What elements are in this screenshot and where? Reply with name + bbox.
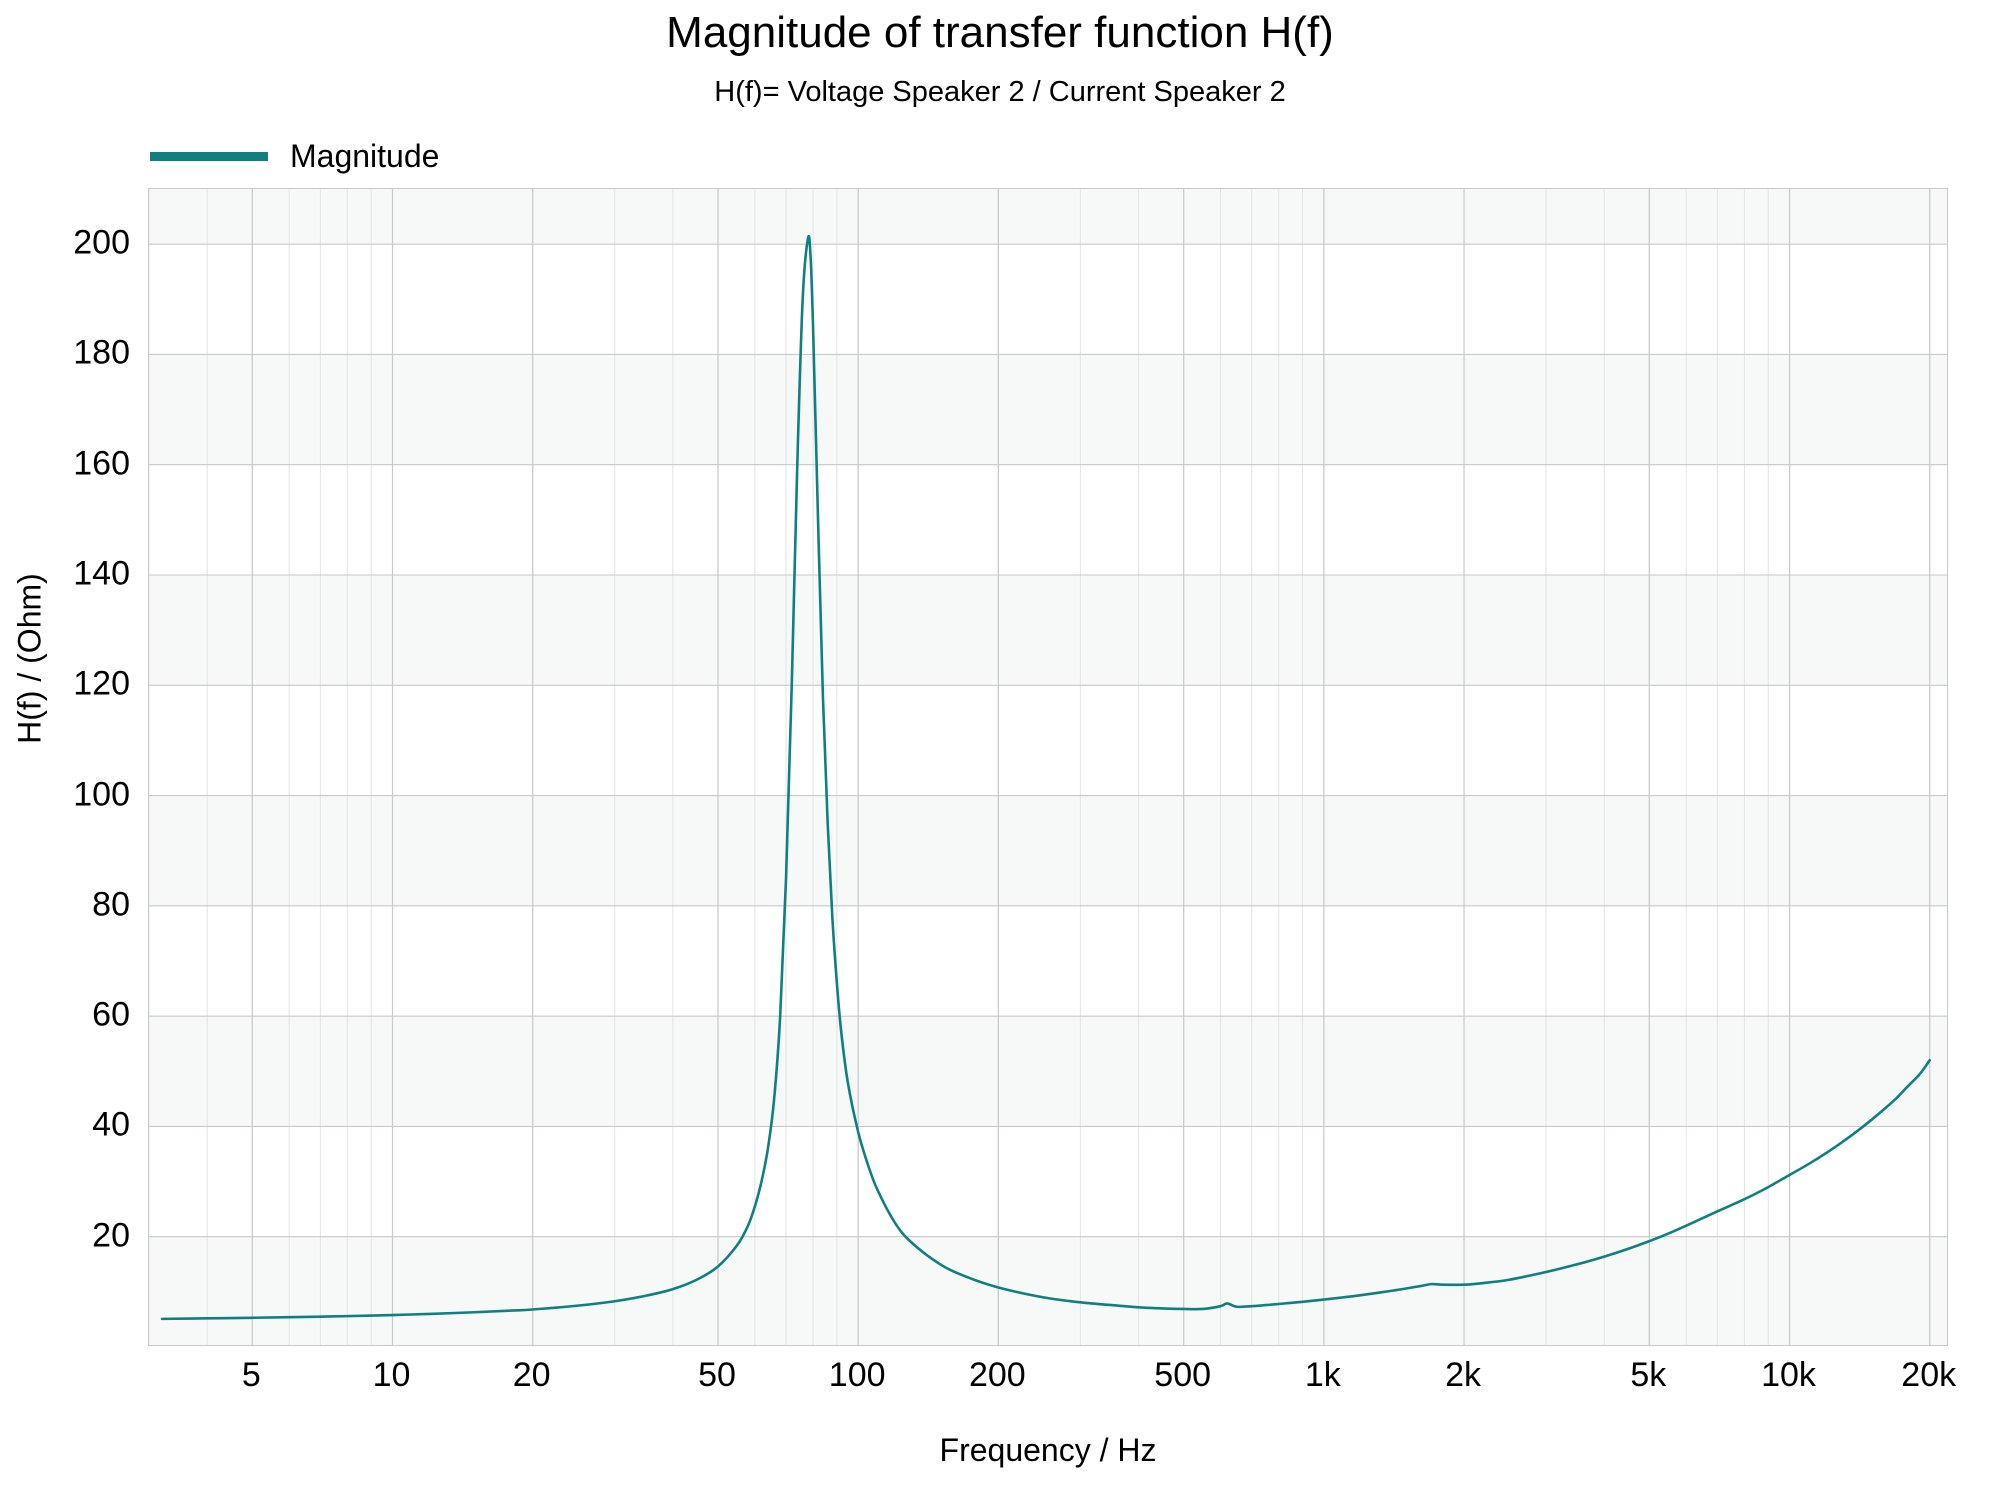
magnitude-chart: Magnitude of transfer function H(f) H(f)…: [0, 0, 2000, 1500]
x-tick-label: 10k: [1761, 1356, 1816, 1395]
grid-bands: [149, 189, 1948, 1346]
x-tick-label: 20k: [1901, 1356, 1956, 1395]
y-tick-label: 60: [20, 996, 130, 1035]
y-tick-label: 20: [20, 1216, 130, 1255]
plot-canvas: [149, 189, 1948, 1346]
x-axis-title: Frequency / Hz: [148, 1432, 1948, 1469]
y-tick-label: 200: [20, 224, 130, 263]
y-tick-label: 80: [20, 885, 130, 924]
x-tick-label: 5k: [1630, 1356, 1666, 1395]
x-tick-label: 200: [969, 1356, 1026, 1395]
x-tick-label: 1k: [1305, 1356, 1341, 1395]
x-axis-tick-labels: 51020501002005001k2k5k10k20k: [148, 1356, 1948, 1406]
page-title: Magnitude of transfer function H(f): [0, 8, 2000, 58]
x-tick-label: 100: [829, 1356, 886, 1395]
x-tick-label: 2k: [1445, 1356, 1481, 1395]
x-tick-label: 20: [513, 1356, 551, 1395]
x-tick-label: 50: [698, 1356, 736, 1395]
plot-area: KLIPPEL: [148, 188, 1948, 1346]
x-tick-label: 500: [1154, 1356, 1211, 1395]
y-tick-label: 160: [20, 444, 130, 483]
x-tick-label: 5: [242, 1356, 261, 1395]
y-axis-title: H(f) / (Ohm): [12, 509, 49, 809]
x-tick-label: 10: [373, 1356, 411, 1395]
y-tick-label: 180: [20, 334, 130, 373]
legend-label-magnitude: Magnitude: [290, 138, 439, 175]
y-tick-label: 40: [20, 1106, 130, 1145]
chart-legend: Magnitude: [150, 138, 439, 175]
chart-subtitle: H(f)= Voltage Speaker 2 / Current Speake…: [0, 76, 2000, 109]
legend-color-swatch-magnitude: [150, 152, 268, 161]
